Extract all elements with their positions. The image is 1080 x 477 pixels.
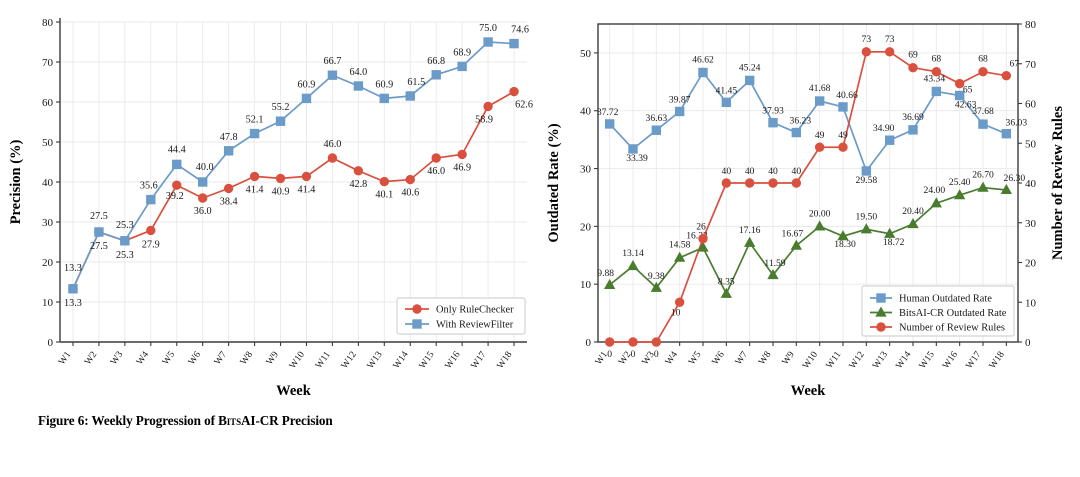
data-label: 13.14	[622, 248, 644, 259]
y-tick-label-right: 20	[1025, 258, 1037, 270]
data-point	[699, 234, 707, 242]
data-label: 9.38	[648, 271, 665, 282]
data-point	[1002, 71, 1010, 79]
data-point	[628, 261, 638, 270]
figure-6-caption: Figure 6: Weekly Progression of BitsAI-C…	[38, 412, 508, 431]
data-point	[862, 167, 870, 175]
data-point	[250, 172, 258, 180]
data-point	[276, 174, 284, 182]
data-label: 20.00	[809, 208, 831, 219]
x-tick-label: W18	[495, 349, 515, 371]
data-label: 40.66	[836, 90, 858, 101]
data-label: 8.35	[718, 277, 735, 288]
data-point	[406, 175, 414, 183]
data-point	[839, 143, 847, 151]
legend-label: Number of Review Rules	[899, 323, 1005, 334]
data-point	[652, 338, 660, 346]
data-label: 0	[654, 349, 659, 360]
y-tick-label-right: 70	[1025, 59, 1037, 71]
data-point	[328, 154, 336, 162]
data-label: 40.0	[196, 162, 214, 173]
y-tick-label-left: 0	[586, 337, 592, 349]
data-point	[484, 102, 492, 110]
data-point	[354, 167, 362, 175]
data-point	[652, 126, 660, 134]
data-point	[147, 226, 155, 234]
series-line-2	[73, 42, 514, 289]
data-label: 40	[768, 166, 778, 177]
x-tick-label: W8	[756, 349, 773, 367]
data-point	[745, 179, 753, 187]
y-tick-label-right: 0	[1025, 337, 1031, 349]
data-point	[224, 147, 232, 155]
data-point	[722, 289, 732, 298]
data-label: 69	[908, 50, 918, 61]
x-tick-label: W12	[847, 349, 867, 371]
data-label: 44.4	[168, 144, 186, 155]
data-label: 11.59	[764, 258, 785, 269]
data-point	[406, 92, 414, 100]
data-point	[605, 338, 613, 346]
figure-6-caption-prefix: Figure 6: Weekly Progression of	[38, 413, 218, 428]
x-tick-label: W9	[780, 349, 797, 367]
data-label: 25.3	[116, 220, 134, 231]
data-point	[722, 179, 730, 187]
data-label: 33.39	[626, 153, 648, 164]
data-point	[510, 39, 518, 47]
data-label: 40.6	[401, 188, 419, 199]
legend-label: Only RuleChecker	[436, 305, 514, 316]
y-axis-title: Precision (%)	[8, 139, 24, 224]
data-label: 36.63	[646, 113, 668, 124]
x-tick-label: W17	[469, 349, 489, 371]
x-tick-label: W14	[894, 349, 914, 371]
data-point	[792, 179, 800, 187]
y-tick-label-right: 80	[1025, 19, 1037, 31]
precision-line-chart: 01020304050607080W1W2W3W4W5W6W7W8W9W10W1…	[0, 0, 540, 400]
x-tick-label: W13	[870, 349, 890, 371]
data-point	[909, 126, 917, 134]
data-point	[198, 194, 206, 202]
x-tick-label: W12	[339, 349, 359, 371]
data-label: 73	[885, 34, 895, 45]
x-tick-label: W11	[824, 349, 844, 370]
data-point	[699, 68, 707, 76]
data-label: 37.93	[762, 106, 784, 117]
legend-swatch-marker	[877, 294, 885, 302]
data-point	[932, 87, 940, 95]
x-tick-label: W7	[212, 349, 229, 367]
data-point	[328, 71, 336, 79]
data-point	[1002, 129, 1010, 137]
data-point	[173, 181, 181, 189]
data-label: 39.2	[166, 191, 184, 202]
figure-6-caption-smallcaps: Bits	[218, 413, 241, 428]
data-label: 41.4	[246, 184, 264, 195]
data-label: 34.90	[873, 123, 895, 134]
data-point	[458, 150, 466, 158]
data-point	[198, 178, 206, 186]
data-point	[745, 76, 753, 84]
x-tick-label: W1	[56, 349, 73, 367]
data-point	[224, 184, 232, 192]
data-label: 26	[696, 222, 706, 233]
y-tick-label: 70	[42, 57, 54, 69]
data-point	[769, 118, 777, 126]
y-tick-label-left: 20	[580, 221, 592, 233]
data-point	[885, 136, 893, 144]
data-label: 40	[722, 166, 732, 177]
x-tick-label: W15	[417, 349, 437, 371]
data-label: 18.72	[883, 237, 905, 248]
x-tick-label: W10	[800, 349, 820, 371]
x-tick-label: W5	[160, 349, 177, 367]
data-point	[815, 221, 825, 230]
data-label: 60.9	[298, 79, 316, 90]
legend-label: BitsAI-CR Outdated Rate	[899, 308, 1007, 319]
data-label: 52.1	[246, 115, 264, 126]
y-tick-label-left: 30	[580, 164, 592, 176]
figure-page: 01020304050607080W1W2W3W4W5W6W7W8W9W10W1…	[0, 0, 1080, 477]
data-label: 10	[671, 307, 681, 318]
x-tick-label: W13	[365, 349, 385, 371]
data-point	[978, 183, 988, 192]
data-point	[839, 103, 847, 111]
data-label: 36.0	[194, 206, 212, 217]
data-label: 62.6	[515, 100, 533, 111]
data-point	[815, 143, 823, 151]
data-label: 20.40	[902, 206, 924, 217]
data-label: 42.8	[349, 179, 367, 190]
x-tick-label: W14	[391, 349, 411, 371]
x-axis-title: Week	[791, 383, 827, 399]
data-point	[629, 145, 637, 153]
data-label: 40	[792, 166, 802, 177]
data-label: 49	[815, 130, 825, 141]
data-label: 26.30	[1004, 173, 1026, 184]
data-point	[458, 62, 466, 70]
data-point	[173, 160, 181, 168]
figure-6-container: 01020304050607080W1W2W3W4W5W6W7W8W9W10W1…	[0, 0, 540, 400]
data-label: 64.0	[349, 67, 367, 78]
y-tick-label: 60	[42, 97, 54, 109]
data-label: 39.87	[669, 94, 691, 105]
data-label: 49	[838, 130, 848, 141]
data-point	[302, 94, 310, 102]
data-label: 41.68	[809, 83, 831, 94]
x-tick-label: W16	[940, 349, 960, 371]
y-tick-label-right: 30	[1025, 218, 1037, 230]
y-tick-label-right: 10	[1025, 297, 1037, 309]
data-point	[862, 224, 872, 233]
data-point	[147, 195, 155, 203]
data-label: 46.9	[453, 162, 471, 173]
data-label: 75.0	[479, 23, 497, 34]
x-tick-label: W16	[443, 349, 463, 371]
data-label: 68.9	[453, 47, 471, 58]
data-label: 65	[963, 85, 973, 96]
data-label: 37.72	[597, 107, 619, 118]
x-tick-label: W6	[186, 349, 203, 367]
y-tick-label: 50	[42, 137, 54, 149]
data-label: 60.9	[375, 79, 393, 90]
data-label: 0	[607, 349, 612, 360]
x-tick-label: W15	[917, 349, 937, 371]
data-point	[722, 98, 730, 106]
data-label: 9.88	[597, 268, 614, 279]
data-label: 27.5	[90, 211, 108, 222]
data-point	[675, 298, 683, 306]
legend-swatch-marker	[413, 305, 421, 313]
data-label: 36.69	[902, 112, 924, 123]
x-tick-label: W18	[987, 349, 1007, 371]
x-axis-title: Week	[276, 383, 312, 399]
data-label: 36.23	[790, 116, 812, 127]
data-label: 41.45	[716, 85, 738, 96]
data-label: 17.16	[739, 225, 761, 236]
x-tick-label: W6	[710, 349, 727, 367]
legend-label: Human Outdated Rate	[899, 294, 992, 305]
data-label: 35.6	[140, 181, 158, 192]
data-label: 40.9	[272, 186, 290, 197]
x-tick-label: W9	[264, 349, 281, 367]
data-point	[302, 172, 310, 180]
data-point	[979, 120, 987, 128]
data-label: 13.3	[64, 263, 82, 274]
x-tick-label: W5	[686, 349, 703, 367]
data-label: 16.67	[782, 229, 804, 240]
data-label: 24.00	[924, 185, 946, 196]
data-point	[276, 117, 284, 125]
data-label: 37.68	[972, 106, 994, 117]
data-point	[380, 94, 388, 102]
y-tick-label-right: 40	[1025, 178, 1037, 190]
data-point	[510, 87, 518, 95]
data-point	[979, 68, 987, 76]
legend-label: With ReviewFilter	[436, 320, 514, 331]
y-tick-label: 10	[42, 297, 54, 309]
data-label: 40.1	[375, 190, 393, 201]
x-tick-label: W4	[663, 349, 680, 367]
data-label: 46.62	[692, 54, 714, 65]
y-tick-label-right: 60	[1025, 99, 1037, 111]
data-label: 41.4	[298, 184, 316, 195]
data-label: 47.8	[220, 132, 238, 143]
data-label: 40	[745, 166, 755, 177]
data-point	[792, 128, 800, 136]
data-label: 67	[1010, 59, 1020, 70]
data-label: 45.24	[739, 62, 761, 73]
data-point	[605, 120, 613, 128]
y-tick-label-right: 50	[1025, 138, 1037, 150]
data-label: 58.9	[475, 114, 493, 125]
y-tick-label: 40	[42, 177, 54, 189]
data-label: 18.30	[834, 239, 856, 250]
data-label: 25.40	[949, 177, 971, 188]
data-point	[745, 238, 755, 247]
data-point	[354, 82, 362, 90]
data-point	[932, 68, 940, 76]
data-point	[484, 38, 492, 46]
data-label: 19.50	[856, 211, 878, 222]
data-point	[629, 338, 637, 346]
x-tick-label: W3	[108, 349, 125, 367]
y-tick-label: 80	[42, 17, 54, 29]
data-point	[769, 179, 777, 187]
data-point	[885, 48, 893, 56]
y-tick-label: 20	[42, 257, 54, 269]
data-point	[432, 154, 440, 162]
x-tick-label: W17	[964, 349, 984, 371]
figure-7-plot: 0102030405001020304050607080W1W2W3W4W5W6…	[540, 0, 1080, 400]
data-label: 25.3	[116, 250, 134, 261]
data-label: 0	[631, 349, 636, 360]
figure-7-container: 0102030405001020304050607080W1W2W3W4W5W6…	[540, 0, 1080, 400]
x-tick-label: W8	[238, 349, 255, 367]
data-point	[862, 48, 870, 56]
data-label: 46.0	[427, 166, 445, 177]
data-point	[675, 107, 683, 115]
data-label: 66.7	[324, 56, 342, 67]
data-label: 38.4	[220, 196, 238, 207]
data-label: 66.8	[427, 56, 445, 67]
data-label: 61.5	[407, 77, 425, 88]
y-axis-title-left: Outdated Rate (%)	[546, 123, 562, 242]
data-label: 68	[978, 54, 988, 65]
data-point	[909, 64, 917, 72]
data-point	[380, 177, 388, 185]
y-tick-label-left: 50	[580, 48, 592, 60]
figure-6-caption-suffix: AI-CR Precision	[241, 413, 333, 428]
data-label: 13.3	[64, 298, 82, 309]
y-tick-label: 30	[42, 217, 54, 229]
data-point	[815, 97, 823, 105]
y-tick-label-left: 10	[580, 279, 592, 291]
data-label: 74.6	[511, 25, 529, 36]
data-point	[69, 285, 77, 293]
x-tick-label: W2	[82, 349, 99, 367]
legend-swatch-marker	[877, 323, 885, 331]
data-point	[432, 71, 440, 79]
data-label: 26.70	[972, 170, 994, 181]
y-tick-label-left: 40	[580, 106, 592, 118]
y-axis-title-right: Number of Review Rules	[1050, 106, 1066, 260]
data-label: 27.9	[142, 239, 160, 250]
data-point	[95, 228, 103, 236]
figure-6-plot: 01020304050607080W1W2W3W4W5W6W7W8W9W10W1…	[0, 0, 540, 400]
x-tick-label: W11	[313, 349, 333, 370]
data-label: 27.5	[90, 241, 108, 252]
data-label: 73	[862, 34, 872, 45]
x-tick-label: W10	[287, 349, 307, 371]
data-label: 55.2	[272, 102, 290, 113]
y-tick-label: 0	[48, 337, 54, 349]
legend-swatch-marker	[413, 320, 421, 328]
data-label: 36.03	[1006, 118, 1028, 129]
x-tick-label: W4	[134, 349, 151, 367]
data-label: 68	[932, 54, 942, 65]
data-label: 29.58	[856, 175, 878, 186]
data-label: 46.0	[324, 139, 342, 150]
x-tick-label: W7	[733, 349, 750, 367]
data-point	[250, 129, 258, 137]
data-point	[121, 237, 129, 245]
outdated-rate-line-chart: 0102030405001020304050607080W1W2W3W4W5W6…	[540, 0, 1080, 400]
